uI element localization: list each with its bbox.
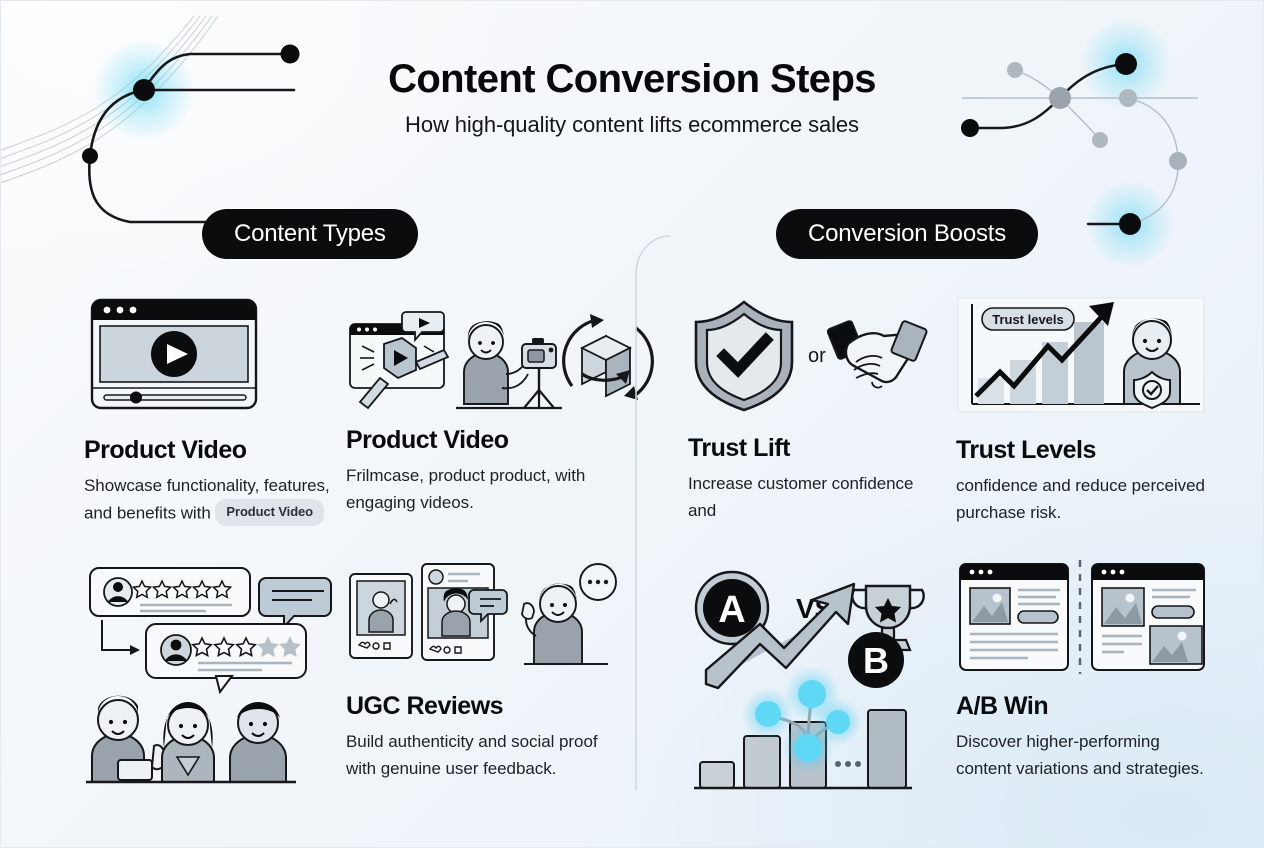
- card-product-video-creation: Product Video Frilmcase, product product…: [346, 300, 604, 517]
- card-heading: Product Video: [84, 436, 332, 464]
- trust-levels-chart-illustration: Trust levels: [956, 296, 1212, 414]
- trust-lift-illustration: or: [688, 296, 938, 412]
- infographic-canvas: Content Conversion Steps How high-qualit…: [0, 0, 1264, 848]
- person-with-camera-tripod-icon: [456, 321, 562, 408]
- card-heading: Product Video: [346, 426, 604, 454]
- page-subtitle: How high-quality content lifts ecommerce…: [0, 112, 1264, 138]
- section-pill-content-types[interactable]: Content Types: [202, 209, 418, 259]
- column-divider: [632, 234, 672, 790]
- svg-text:B: B: [863, 640, 889, 681]
- card-body: Increase customer confidence and: [688, 471, 938, 525]
- page-title: Content Conversion Steps: [0, 58, 1264, 100]
- card-body: Discover higher-performing content varia…: [956, 729, 1212, 783]
- svg-text:A: A: [718, 589, 745, 631]
- card-product-video-player: Product Video Showcase functionality, fe…: [84, 294, 332, 527]
- card-heading: Trust Levels: [956, 436, 1212, 464]
- card-heading: UGC Reviews: [346, 692, 614, 720]
- section-pill-content-types-label: Content Types: [234, 220, 386, 248]
- card-body: Build authenticity and social proof with…: [346, 729, 614, 783]
- chart-label: Trust levels: [992, 312, 1064, 327]
- card-ugc-reviews-art: [84, 560, 334, 792]
- card-heading: Trust Lift: [688, 434, 938, 462]
- card-trust-levels: Trust levels Trust Levels confidence and…: [956, 296, 1212, 527]
- browser-video-player-icon: [84, 294, 332, 414]
- card-trust-lift: or Trust Lift Increase customer confiden…: [688, 296, 938, 525]
- svg-text:or: or: [808, 345, 826, 367]
- card-ab-win: A/B Win Discover higher-performing conte…: [956, 558, 1212, 783]
- review-cards-illustration: [84, 560, 334, 792]
- card-body: Frilmcase, product product, with engagin…: [346, 463, 604, 517]
- section-pill-conversion-boosts-label: Conversion Boosts: [808, 220, 1006, 248]
- card-body: Showcase functionality, features, and be…: [84, 473, 332, 527]
- card-body: confidence and reduce perceived purchase…: [956, 473, 1212, 527]
- card-ugc-photo-art: UGC Reviews Build authenticity and socia…: [346, 560, 614, 783]
- ugc-photo-posts-illustration: [346, 560, 614, 678]
- card-ab-win-art: A VS B: [688, 558, 938, 798]
- browser-play-window-icon: [350, 312, 448, 408]
- section-pill-conversion-boosts[interactable]: Conversion Boosts: [776, 209, 1038, 259]
- video-creation-icons: [346, 300, 604, 410]
- ab-test-illustration: A VS B: [688, 558, 938, 798]
- header: Content Conversion Steps How high-qualit…: [0, 58, 1264, 138]
- page-variants-illustration: [956, 558, 1212, 676]
- inline-chip-product-video[interactable]: Product Video: [215, 499, 324, 527]
- card-heading: A/B Win: [956, 692, 1212, 720]
